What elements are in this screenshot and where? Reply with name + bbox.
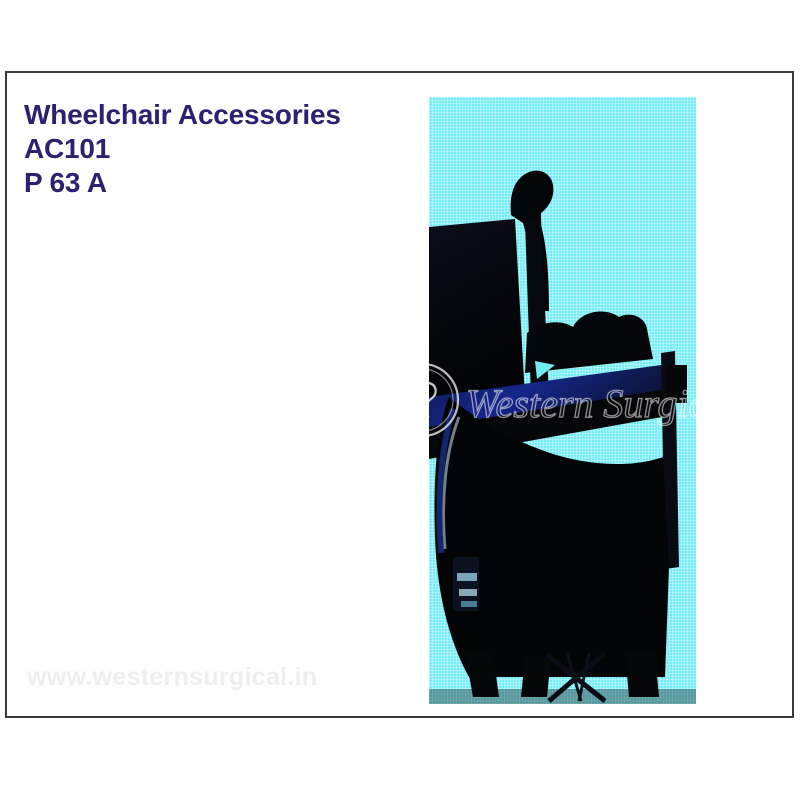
product-variant: P 63 A (24, 166, 424, 200)
wheelchair-silhouette-icon (429, 97, 696, 704)
page-root: Wheelchair Accessories AC101 P 63 A www.… (0, 0, 800, 800)
product-photo (429, 97, 696, 704)
brake-detail-1 (457, 573, 477, 581)
base-shadow (429, 689, 696, 704)
backrest-shape (429, 219, 525, 405)
product-text-block: Wheelchair Accessories AC101 P 63 A (24, 98, 424, 200)
brake-detail-2 (459, 589, 477, 596)
site-url-watermark: www.westernsurgical.in (27, 663, 317, 692)
product-photo-canvas (429, 97, 696, 704)
rod-clamp-shape (667, 365, 687, 403)
brake-detail-3 (461, 601, 477, 607)
product-code: AC101 (24, 132, 424, 166)
product-card: Wheelchair Accessories AC101 P 63 A www.… (5, 71, 794, 718)
product-title: Wheelchair Accessories (24, 98, 424, 132)
wheel-body-shape (435, 397, 669, 677)
